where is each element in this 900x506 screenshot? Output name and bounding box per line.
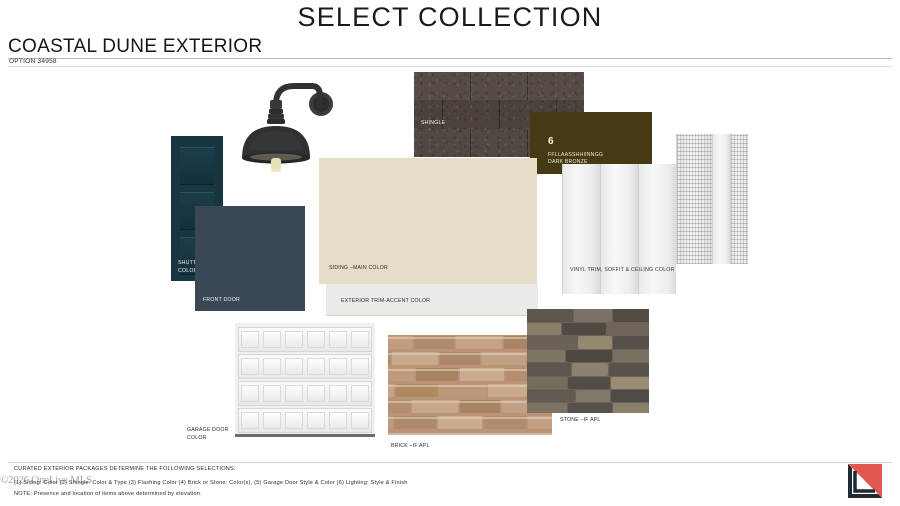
stone-piece [568, 377, 610, 389]
stone-piece [611, 377, 649, 389]
garage-panel-row [238, 327, 372, 352]
lamp-icon [236, 72, 336, 172]
garage-panel [307, 385, 325, 402]
garage-panel [307, 358, 325, 375]
swatch-siding-main[interactable]: SIDING –MAIN COLOR [319, 158, 537, 284]
header-divider-thin [8, 66, 892, 67]
triangle-brand-logo[interactable] [842, 461, 886, 501]
garage-panel [263, 412, 281, 429]
garage-panel [285, 358, 303, 375]
garage-panel [263, 385, 281, 402]
garage-panel-row [238, 408, 372, 433]
flashing-number: 6 [548, 136, 554, 147]
stone-piece [613, 309, 649, 322]
garage-panel [329, 331, 347, 348]
swatch-label-siding: SIDING –MAIN COLOR [329, 265, 388, 273]
stone-piece [566, 350, 612, 362]
vented-soffit-plank [676, 134, 712, 264]
garage-panel [307, 331, 325, 348]
watermark: ©2026 OneLive MLS [0, 255, 118, 267]
swatch-label-trim: EXTERIOR TRIM-ACCENT COLOR [341, 298, 430, 306]
swatch-label-shingle: SHINGLE [421, 120, 445, 128]
collection-title: SELECT COLLECTION [0, 2, 900, 33]
swatch-label-brick: BRICK –IF APL [391, 443, 430, 449]
stone-piece [527, 336, 577, 349]
stone-piece [574, 309, 612, 322]
footer-divider [8, 462, 892, 463]
stone-piece [613, 403, 649, 413]
garage-panel [285, 412, 303, 429]
garage-panel [329, 412, 347, 429]
stone-piece [527, 350, 565, 362]
garage-panel [329, 385, 347, 402]
stone-piece [576, 390, 610, 402]
stone-piece [578, 336, 612, 349]
garage-panel [285, 331, 303, 348]
stone-piece [527, 403, 567, 413]
stone-piece [572, 363, 608, 376]
header-divider [8, 58, 892, 59]
watermark: ©2026 OneLive MLS [0, 474, 118, 486]
garage-panel [329, 358, 347, 375]
soffit-plank [712, 134, 730, 264]
garage-panel [351, 331, 369, 348]
swatch-vinyl-trim-soffit[interactable]: VINYL TRIM, SOFFIT & CEILING COLOR [562, 134, 748, 294]
swatch-stone[interactable] [527, 309, 649, 413]
footer-line-3: NOTE: Presence and location of items abo… [14, 491, 202, 497]
swatch-label-garage-door: GARAGE DOOR COLOR [187, 427, 229, 442]
stone-piece [527, 390, 575, 402]
swatch-label-stone: STONE –IF APL [560, 417, 601, 423]
stone-piece [613, 336, 649, 349]
garage-panel-row [238, 354, 372, 379]
vented-soffit-plank [730, 134, 748, 264]
stone-piece [562, 323, 606, 335]
swatch-garage-door[interactable] [235, 323, 375, 437]
garage-panel [263, 358, 281, 375]
garage-door-shadow [235, 434, 375, 437]
garage-panel [351, 385, 369, 402]
swatch-front-door[interactable]: FRONT DOOR [195, 206, 305, 311]
garage-panel [307, 412, 325, 429]
stone-piece [613, 350, 649, 362]
garage-panel [351, 358, 369, 375]
footer-line-1: CURATED EXTERIOR PACKAGES DETERMINE THE … [14, 466, 236, 472]
stone-piece [527, 363, 571, 376]
garage-panel [285, 385, 303, 402]
brand-logo-icon [842, 461, 886, 501]
stone-piece [527, 323, 561, 335]
garage-panel [241, 412, 259, 429]
stone-piece [568, 403, 612, 413]
garage-panel-row [238, 381, 372, 406]
option-code: OPTION 34958 [9, 58, 57, 65]
page-title: COASTAL DUNE EXTERIOR [8, 36, 262, 58]
garage-panel [241, 331, 259, 348]
stone-piece [527, 377, 567, 389]
swatch-label-front-door: FRONT DOOR [203, 297, 240, 305]
garage-panel [241, 358, 259, 375]
wall-sconce-light-fixture[interactable] [236, 72, 336, 172]
shutter-panel [180, 147, 214, 185]
swatch-exterior-trim[interactable]: EXTERIOR TRIM-ACCENT COLOR [326, 284, 538, 316]
stone-piece [527, 309, 573, 322]
garage-panel [241, 385, 259, 402]
stone-piece [607, 323, 649, 335]
garage-panel [351, 412, 369, 429]
stone-piece [609, 363, 649, 376]
exterior-selection-board: SELECT COLLECTION COASTAL DUNE EXTERIOR … [0, 0, 900, 506]
swatch-label-vinyl: VINYL TRIM, SOFFIT & CEILING COLOR [570, 267, 675, 275]
stone-piece [611, 390, 649, 402]
garage-panel [263, 331, 281, 348]
